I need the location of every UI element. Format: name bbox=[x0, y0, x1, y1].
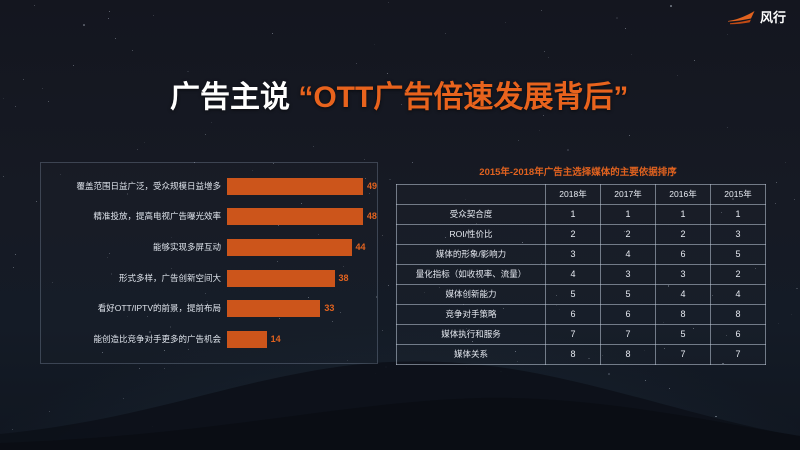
bar-row: 覆盖范围日益广泛，受众规模日益增多49 bbox=[41, 175, 377, 197]
bar-track: 48 bbox=[227, 206, 377, 228]
star-dot bbox=[364, 159, 365, 160]
title-part-white: 广告主说 bbox=[170, 81, 290, 114]
star-dot bbox=[73, 65, 74, 66]
star-dot bbox=[505, 22, 506, 23]
table-row-label: 受众契合度 bbox=[397, 205, 546, 225]
table-row-label: 媒体执行和服务 bbox=[397, 325, 546, 345]
bar-value-label: 14 bbox=[271, 335, 281, 344]
bar-row: 能创造比竞争对手更多的广告机会14 bbox=[41, 329, 377, 351]
table-head: 2018年2017年2016年2015年 bbox=[397, 185, 766, 205]
star-dot bbox=[34, 5, 35, 6]
table-row: ROI/性价比2223 bbox=[397, 225, 766, 245]
star-dot bbox=[567, 149, 569, 151]
table-header-row: 2018年2017年2016年2015年 bbox=[397, 185, 766, 205]
star-dot bbox=[48, 101, 49, 102]
star-dot bbox=[83, 24, 85, 26]
swoosh-icon bbox=[727, 9, 757, 25]
star-dot bbox=[137, 149, 138, 150]
bar-fill bbox=[227, 178, 363, 195]
table-rank-cell: 8 bbox=[601, 345, 656, 365]
star-dot bbox=[616, 17, 618, 19]
bar-category-label: 精准投放，提高电视广告曝光效率 bbox=[41, 211, 227, 222]
table-year-header: 2017年 bbox=[601, 185, 656, 205]
star-dot bbox=[15, 106, 16, 107]
star-dot bbox=[388, 2, 389, 3]
star-dot bbox=[23, 79, 24, 80]
bar-value-label: 38 bbox=[339, 274, 349, 283]
bar-category-label: 看好OTT/IPTV的前景，提前布局 bbox=[41, 303, 227, 314]
logo-text: 风行 bbox=[760, 11, 786, 24]
brand-logo: 风行 bbox=[727, 9, 786, 25]
table-row: 媒体的形象/影响力3465 bbox=[397, 245, 766, 265]
bar-category-label: 形式多样，广告创新空间大 bbox=[41, 273, 227, 284]
bar-track: 14 bbox=[227, 329, 377, 351]
bar-track: 49 bbox=[227, 175, 377, 197]
table-year-header: 2018年 bbox=[546, 185, 601, 205]
table-rank-cell: 3 bbox=[711, 225, 766, 245]
table-body: 受众契合度1111ROI/性价比2223媒体的形象/影响力3465量化指标（如收… bbox=[397, 205, 766, 365]
star-dot bbox=[629, 135, 630, 136]
bar-fill bbox=[227, 300, 320, 317]
bar-row: 看好OTT/IPTV的前景，提前布局33 bbox=[41, 298, 377, 320]
table-rank-cell: 8 bbox=[711, 305, 766, 325]
star-dot bbox=[625, 28, 626, 29]
table-rank-cell: 8 bbox=[546, 345, 601, 365]
bar-chart: 覆盖范围日益广泛，受众规模日益增多49精准投放，提高电视广告曝光效率48能够实现… bbox=[41, 163, 377, 363]
table-rank-cell: 6 bbox=[656, 245, 711, 265]
table-rank-cell: 1 bbox=[546, 205, 601, 225]
star-dot bbox=[694, 60, 695, 61]
table-rank-cell: 3 bbox=[601, 265, 656, 285]
star-dot bbox=[115, 38, 116, 39]
star-dot bbox=[272, 33, 273, 34]
table-row-label: ROI/性价比 bbox=[397, 225, 546, 245]
star-dot bbox=[544, 51, 545, 52]
table-rank-cell: 6 bbox=[711, 325, 766, 345]
table-row: 量化指标（如收视率、流量）4332 bbox=[397, 265, 766, 285]
star-dot bbox=[796, 288, 798, 290]
bar-row: 形式多样，广告创新空间大38 bbox=[41, 267, 377, 289]
ranking-table-panel: 2015年-2018年广告主选择媒体的主要依据排序 2018年2017年2016… bbox=[396, 162, 760, 365]
star-dot bbox=[382, 235, 383, 236]
table-row-label: 媒体创新能力 bbox=[397, 285, 546, 305]
bar-fill bbox=[227, 239, 352, 256]
star-dot bbox=[109, 11, 110, 12]
star-dot bbox=[211, 122, 212, 123]
table-rank-cell: 2 bbox=[711, 265, 766, 285]
bar-track: 33 bbox=[227, 298, 377, 320]
star-dot bbox=[187, 71, 189, 73]
star-dot bbox=[313, 146, 314, 147]
star-dot bbox=[785, 162, 786, 163]
bar-fill bbox=[227, 331, 267, 348]
table-rank-cell: 5 bbox=[601, 285, 656, 305]
table-row: 受众契合度1111 bbox=[397, 205, 766, 225]
table-rank-cell: 1 bbox=[711, 205, 766, 225]
table-row: 竞争对手策略6688 bbox=[397, 305, 766, 325]
table-row-label: 竞争对手策略 bbox=[397, 305, 546, 325]
star-dot bbox=[374, 44, 375, 45]
table-row: 媒体执行和服务7756 bbox=[397, 325, 766, 345]
star-dot bbox=[775, 203, 776, 204]
star-dot bbox=[794, 199, 795, 200]
title-part-orange: “OTT广告倍速发展背后” bbox=[298, 81, 628, 114]
bar-chart-panel: 覆盖范围日益广泛，受众规模日益增多49精准投放，提高电视广告曝光效率48能够实现… bbox=[40, 162, 378, 364]
table-rank-cell: 1 bbox=[656, 205, 711, 225]
star-dot bbox=[631, 54, 632, 55]
table-rank-cell: 7 bbox=[546, 325, 601, 345]
star-dot bbox=[727, 34, 728, 35]
star-dot bbox=[727, 127, 728, 128]
table-year-header: 2016年 bbox=[656, 185, 711, 205]
bar-row: 能够实现多屏互动44 bbox=[41, 237, 377, 259]
table-row-label: 媒体关系 bbox=[397, 345, 546, 365]
table-year-header: 2015年 bbox=[711, 185, 766, 205]
table-rank-cell: 5 bbox=[711, 245, 766, 265]
table-rank-cell: 3 bbox=[656, 265, 711, 285]
star-dot bbox=[3, 176, 4, 177]
bar-row: 精准投放，提高电视广告曝光效率48 bbox=[41, 206, 377, 228]
table-row: 媒体创新能力5544 bbox=[397, 285, 766, 305]
bar-category-label: 能创造比竞争对手更多的广告机会 bbox=[41, 334, 227, 345]
table-rank-cell: 6 bbox=[601, 305, 656, 325]
bar-track: 38 bbox=[227, 267, 377, 289]
ranking-table: 2018年2017年2016年2015年 受众契合度1111ROI/性价比222… bbox=[396, 184, 766, 365]
star-dot bbox=[205, 134, 206, 135]
bar-category-label: 能够实现多屏互动 bbox=[41, 242, 227, 253]
table-rank-cell: 4 bbox=[601, 245, 656, 265]
table-corner-cell bbox=[397, 185, 546, 205]
table-title: 2015年-2018年广告主选择媒体的主要依据排序 bbox=[396, 162, 760, 184]
table-rank-cell: 4 bbox=[656, 285, 711, 305]
table-row-label: 媒体的形象/影响力 bbox=[397, 245, 546, 265]
star-dot bbox=[132, 50, 133, 51]
bar-value-label: 48 bbox=[367, 212, 377, 221]
star-dot bbox=[108, 18, 110, 20]
star-dot bbox=[670, 5, 672, 7]
bar-fill bbox=[227, 270, 335, 287]
star-dot bbox=[541, 10, 542, 11]
star-dot bbox=[791, 314, 792, 315]
table-rank-cell: 4 bbox=[711, 285, 766, 305]
bar-value-label: 33 bbox=[324, 304, 334, 313]
star-dot bbox=[356, 63, 357, 64]
table-rank-cell: 8 bbox=[656, 305, 711, 325]
star-dot bbox=[388, 285, 389, 286]
page-title: 广告主说 “OTT广告倍速发展背后” bbox=[170, 78, 628, 118]
bar-value-label: 44 bbox=[356, 243, 366, 252]
star-dot bbox=[153, 15, 154, 16]
star-dot bbox=[15, 254, 17, 256]
table-rank-cell: 2 bbox=[601, 225, 656, 245]
table-rank-cell: 1 bbox=[601, 205, 656, 225]
star-dot bbox=[778, 323, 779, 324]
table-row-label: 量化指标（如收视率、流量） bbox=[397, 265, 546, 285]
table-rank-cell: 5 bbox=[546, 285, 601, 305]
star-dot bbox=[548, 57, 549, 58]
star-dot bbox=[42, 88, 43, 89]
star-dot bbox=[539, 130, 540, 131]
table-rank-cell: 4 bbox=[546, 265, 601, 285]
star-dot bbox=[389, 179, 391, 181]
table-rank-cell: 7 bbox=[601, 325, 656, 345]
star-dot bbox=[677, 75, 678, 76]
bar-category-label: 覆盖范围日益广泛，受众规模日益增多 bbox=[41, 181, 227, 192]
star-dot bbox=[3, 98, 4, 99]
bar-fill bbox=[227, 208, 363, 225]
table-rank-cell: 5 bbox=[656, 325, 711, 345]
table-rank-cell: 7 bbox=[711, 345, 766, 365]
table-rank-cell: 2 bbox=[656, 225, 711, 245]
star-dot bbox=[144, 142, 145, 143]
star-dot bbox=[518, 140, 519, 141]
star-dot bbox=[445, 33, 446, 34]
bar-track: 44 bbox=[227, 237, 377, 259]
slide-canvas: 风行 广告主说 “OTT广告倍速发展背后” 覆盖范围日益广泛，受众规模日益增多4… bbox=[0, 0, 800, 450]
star-dot bbox=[36, 201, 37, 202]
star-dot bbox=[387, 73, 388, 74]
bar-value-label: 49 bbox=[367, 182, 377, 191]
table-rank-cell: 7 bbox=[656, 345, 711, 365]
star-dot bbox=[13, 267, 14, 268]
table-rank-cell: 2 bbox=[546, 225, 601, 245]
star-dot bbox=[776, 182, 777, 183]
table-rank-cell: 6 bbox=[546, 305, 601, 325]
table-row: 媒体关系8877 bbox=[397, 345, 766, 365]
table-rank-cell: 3 bbox=[546, 245, 601, 265]
